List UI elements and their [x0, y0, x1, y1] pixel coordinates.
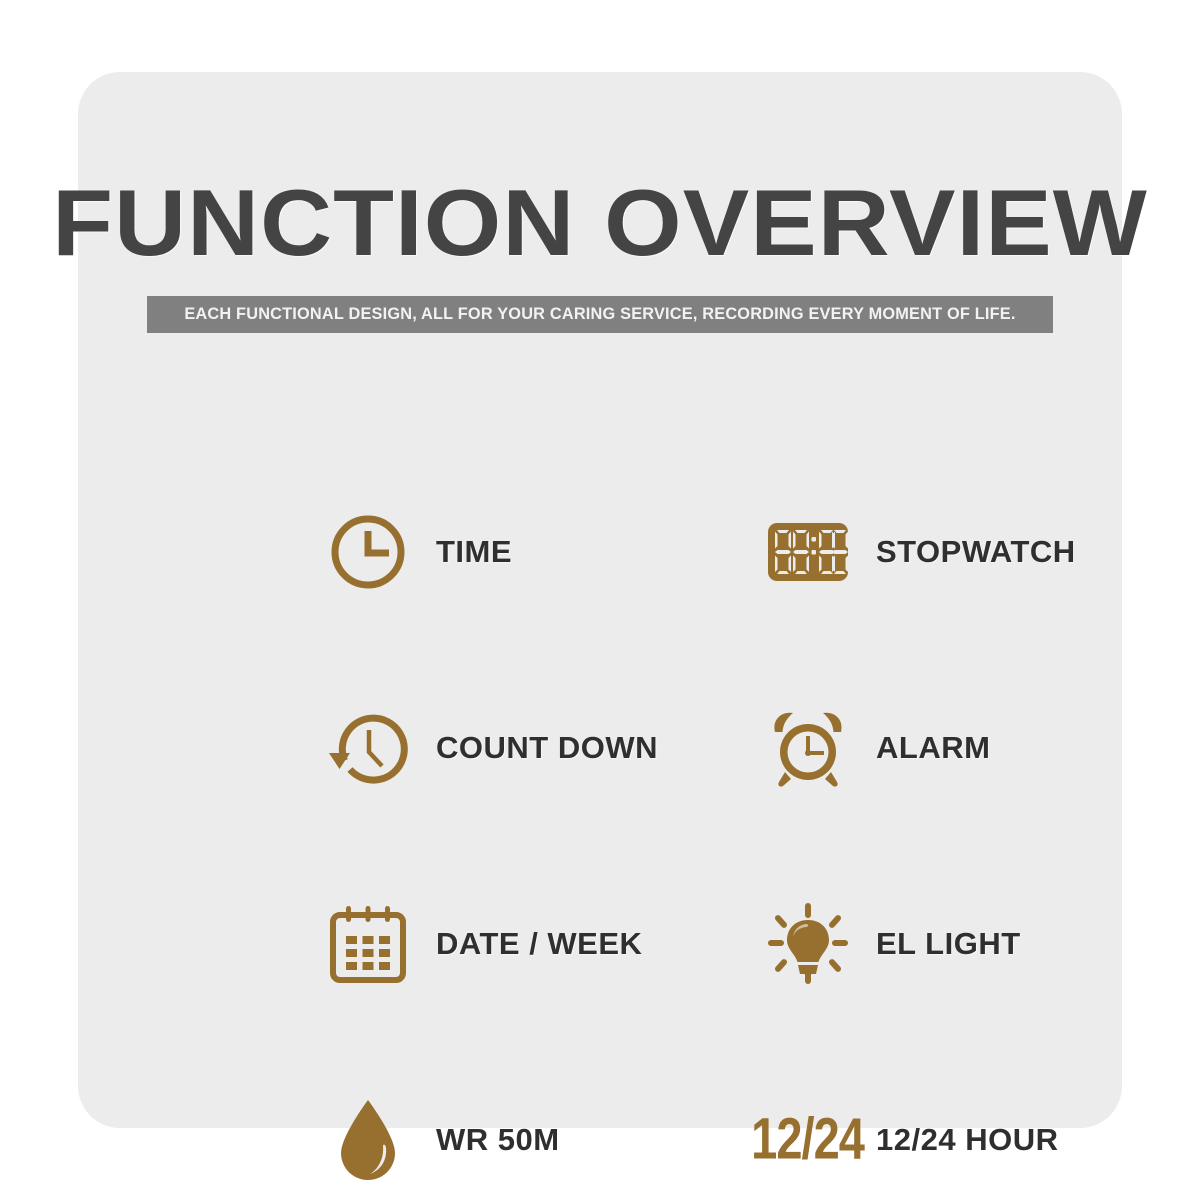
feature-item-count-down[interactable]: COUNT DOWN — [326, 650, 766, 846]
feature-label: ALARM — [876, 732, 990, 764]
feature-item-12-24-hour[interactable]: 12/24 12/24 HOUR — [766, 1042, 1066, 1200]
alarm-clock-icon — [766, 706, 850, 790]
feature-item-date-week[interactable]: DATE / WEEK — [326, 846, 766, 1042]
feature-label: TIME — [436, 536, 512, 568]
feature-label: 12/24 HOUR — [876, 1124, 1058, 1156]
function-overview-page: FUNCTION OVERVIEW EACH FUNCTIONAL DESIGN… — [0, 0, 1200, 1200]
feature-grid: TIME — [326, 454, 1066, 1200]
digital-display-icon — [766, 510, 850, 594]
feature-label: COUNT DOWN — [436, 732, 658, 764]
feature-label: EL LIGHT — [876, 928, 1021, 960]
feature-item-el-light[interactable]: EL LIGHT — [766, 846, 1066, 1042]
subtitle-text: EACH FUNCTIONAL DESIGN, ALL FOR YOUR CAR… — [184, 304, 1015, 324]
content-card: FUNCTION OVERVIEW EACH FUNCTIONAL DESIGN… — [78, 72, 1122, 1128]
calendar-icon — [326, 902, 410, 986]
twelve-twentyfour-icon: 12/24 — [766, 1098, 850, 1182]
feature-item-water-resistance[interactable]: WR 50M — [326, 1042, 766, 1200]
feature-label: DATE / WEEK — [436, 928, 642, 960]
clock-icon — [326, 510, 410, 594]
feature-item-alarm[interactable]: ALARM — [766, 650, 1066, 846]
feature-item-time[interactable]: TIME — [326, 454, 766, 650]
page-title: FUNCTION OVERVIEW — [47, 176, 1154, 270]
feature-label: WR 50M — [436, 1124, 560, 1156]
feature-label: STOPWATCH — [876, 536, 1076, 568]
clock-counterclockwise-icon — [326, 706, 410, 790]
header: FUNCTION OVERVIEW EACH FUNCTIONAL DESIGN… — [78, 176, 1122, 333]
subtitle-banner: EACH FUNCTIONAL DESIGN, ALL FOR YOUR CAR… — [147, 296, 1053, 333]
water-drop-icon — [326, 1098, 410, 1182]
light-bulb-icon — [766, 902, 850, 986]
twelve-twentyfour-icon-text: 12/24 — [752, 1111, 865, 1170]
feature-item-stopwatch[interactable]: STOPWATCH — [766, 454, 1066, 650]
